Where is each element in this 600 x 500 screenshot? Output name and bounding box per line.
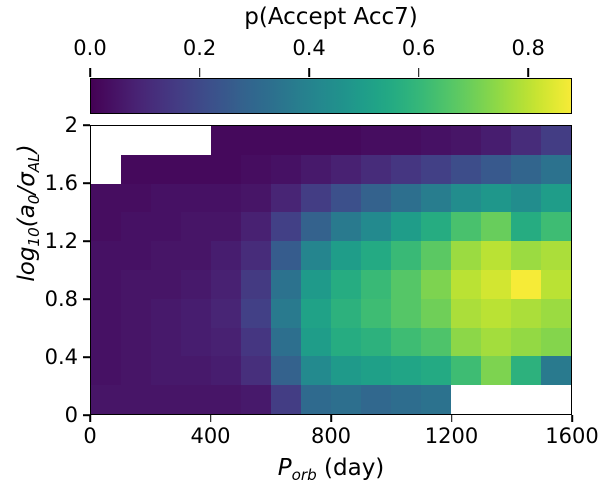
x-tick-mark: [451, 415, 453, 422]
heatmap-cell: [391, 126, 421, 155]
heatmap-cell: [241, 356, 271, 385]
heatmap-cell: [181, 270, 211, 299]
heatmap-cell: [301, 356, 331, 385]
y-tick-mark: [83, 182, 90, 184]
heatmap-cell: [541, 212, 571, 241]
heatmap-cell: [451, 184, 481, 213]
heatmap-cell: [151, 385, 181, 414]
heatmap-cell: [211, 184, 241, 213]
heatmap-cell: [301, 270, 331, 299]
heatmap-cell: [241, 184, 271, 213]
heatmap-cell: [481, 241, 511, 270]
heatmap-cell: [331, 212, 361, 241]
heatmap-cell: [391, 184, 421, 213]
heatmap-cell: [271, 356, 301, 385]
heatmap-cell: [511, 328, 541, 357]
heatmap-cell: [451, 328, 481, 357]
heatmap-cell: [541, 184, 571, 213]
heatmap-cell: [421, 241, 451, 270]
heatmap-cell: [181, 328, 211, 357]
heatmap-cell: [91, 270, 121, 299]
heatmap-cell: [181, 356, 211, 385]
heatmap-cell: [91, 299, 121, 328]
heatmap-cell: [151, 184, 181, 213]
heatmap-cell: [301, 241, 331, 270]
heatmap-cell: [121, 299, 151, 328]
heatmap-cell: [451, 126, 481, 155]
colorbar-tick-label: 0.2: [183, 36, 216, 60]
heatmap-cell: [481, 356, 511, 385]
heatmap-cell: [331, 299, 361, 328]
heatmap-cell: [241, 270, 271, 299]
heatmap-cell: [241, 212, 271, 241]
heatmap-cell: [451, 241, 481, 270]
colorbar-title: p(Accept Acc7): [90, 6, 572, 29]
heatmap-cell: [541, 328, 571, 357]
y-tick-label: 0: [65, 403, 78, 427]
heatmap-cell: [151, 299, 181, 328]
heatmap-cell: [541, 385, 571, 414]
heatmap-cell: [181, 155, 211, 184]
heatmap-cell: [481, 385, 511, 414]
heatmap-cell: [361, 299, 391, 328]
heatmap-cell: [211, 155, 241, 184]
y-axis-label: log10(a0/σAL): [14, 68, 40, 358]
heatmap-cell: [361, 184, 391, 213]
heatmap-cell: [151, 270, 181, 299]
heatmap-cell: [301, 126, 331, 155]
x-tick-mark: [330, 415, 332, 422]
heatmap-cell: [331, 184, 361, 213]
heatmap-cell: [301, 155, 331, 184]
heatmap-cell: [91, 184, 121, 213]
colorbar-tick-mark: [527, 68, 529, 77]
heatmap-cell: [211, 299, 241, 328]
colorbar-tick-mark: [308, 68, 310, 77]
heatmap-cell: [481, 212, 511, 241]
y-tick-mark: [83, 240, 90, 242]
heatmap-cell: [541, 241, 571, 270]
heatmap-cell: [511, 155, 541, 184]
heatmap-cell: [271, 385, 301, 414]
y-label-symbol: log10(a0/σAL): [14, 144, 40, 281]
heatmap-cell: [541, 356, 571, 385]
colorbar-tick-label: 0.6: [402, 36, 435, 60]
heatmap-cell: [271, 299, 301, 328]
heatmap-cell: [271, 126, 301, 155]
heatmap-cell: [451, 155, 481, 184]
heatmap-cell: [91, 356, 121, 385]
x-tick-label: 400: [190, 424, 230, 448]
heatmap-cell: [331, 126, 361, 155]
y-tick-mark: [83, 298, 90, 300]
heatmap-cell: [361, 241, 391, 270]
heatmap-cell: [391, 270, 421, 299]
heatmap-cell: [121, 241, 151, 270]
heatmap-cell: [301, 299, 331, 328]
heatmap-cell: [361, 356, 391, 385]
heatmap-cell: [361, 212, 391, 241]
heatmap-cell: [121, 385, 151, 414]
y-tick-mark: [83, 414, 90, 416]
heatmap-cell: [121, 270, 151, 299]
colorbar-tick-label: 0.0: [73, 36, 106, 60]
heatmap-cell: [271, 212, 301, 241]
heatmap-cell: [91, 212, 121, 241]
colorbar-tick-mark: [418, 68, 420, 77]
heatmap-cell: [391, 328, 421, 357]
heatmap-cell: [451, 212, 481, 241]
heatmap-cell: [511, 299, 541, 328]
x-tick-label: 1200: [425, 424, 478, 448]
heatmap-cell: [481, 184, 511, 213]
heatmap-cell: [241, 126, 271, 155]
x-tick-mark: [89, 415, 91, 422]
heatmap-cell: [391, 299, 421, 328]
heatmap-cell: [91, 241, 121, 270]
heatmap-cell: [211, 241, 241, 270]
x-label-symbol: Porb: [278, 455, 317, 481]
heatmap-cell: [121, 126, 151, 155]
colorbar-tick-mark: [89, 68, 91, 77]
heatmap-cell: [331, 155, 361, 184]
colorbar: [90, 78, 572, 114]
heatmap-cell: [211, 356, 241, 385]
x-tick-mark: [571, 415, 573, 422]
heatmap-cell: [391, 212, 421, 241]
heatmap-cell: [511, 126, 541, 155]
heatmap-cell: [121, 328, 151, 357]
heatmap-cell: [391, 356, 421, 385]
heatmap-cell: [331, 328, 361, 357]
heatmap-cell: [151, 241, 181, 270]
heatmap-cell: [511, 385, 541, 414]
colorbar-gradient: [90, 78, 572, 114]
heatmap-cell: [391, 155, 421, 184]
heatmap-cell: [241, 241, 271, 270]
heatmap-cell: [391, 385, 421, 414]
heatmap-cell: [181, 184, 211, 213]
heatmap-cell: [211, 328, 241, 357]
heatmap-cell: [91, 328, 121, 357]
heatmap-cell: [301, 328, 331, 357]
x-axis-label: Porb (day): [90, 455, 572, 481]
heatmap-cell: [451, 356, 481, 385]
heatmap-cell: [511, 241, 541, 270]
heatmap-cell: [511, 356, 541, 385]
heatmap-cell: [271, 328, 301, 357]
heatmap-cell: [211, 270, 241, 299]
heatmap-cell: [331, 385, 361, 414]
x-tick-mark: [210, 415, 212, 422]
heatmap-cell: [331, 241, 361, 270]
heatmap-cell: [241, 155, 271, 184]
heatmap-cell: [451, 270, 481, 299]
y-tick-label: 0.4: [45, 345, 78, 369]
y-tick-label: 1.6: [45, 171, 78, 195]
heatmap-cell: [541, 155, 571, 184]
colorbar-tick-label: 0.8: [511, 36, 544, 60]
x-tick-label: 800: [311, 424, 351, 448]
heatmap-cell: [151, 356, 181, 385]
heatmap-cell: [481, 328, 511, 357]
heatmap-plot-area: [90, 125, 572, 415]
heatmap-cell: [511, 184, 541, 213]
figure: p(Accept Acc7) 0.00.20.40.60.8 040080012…: [0, 0, 600, 500]
heatmap-cell: [361, 270, 391, 299]
colorbar-tick-label: 0.4: [292, 36, 325, 60]
heatmap-cell: [421, 385, 451, 414]
heatmap-cell: [511, 212, 541, 241]
heatmap-cell: [211, 385, 241, 414]
heatmap-cell: [271, 270, 301, 299]
heatmap-grid: [91, 126, 571, 414]
heatmap-cell: [361, 328, 391, 357]
heatmap-cell: [421, 356, 451, 385]
heatmap-cell: [271, 241, 301, 270]
y-tick-mark: [83, 356, 90, 358]
heatmap-cell: [481, 270, 511, 299]
heatmap-cell: [421, 328, 451, 357]
heatmap-cell: [541, 126, 571, 155]
heatmap-cell: [481, 155, 511, 184]
heatmap-cell: [421, 155, 451, 184]
heatmap-cell: [121, 155, 151, 184]
heatmap-cell: [301, 212, 331, 241]
heatmap-cell: [271, 155, 301, 184]
y-tick-label: 1.2: [45, 229, 78, 253]
heatmap-cell: [91, 385, 121, 414]
heatmap-cell: [241, 385, 271, 414]
heatmap-cell: [121, 356, 151, 385]
heatmap-cell: [421, 184, 451, 213]
heatmap-cell: [301, 184, 331, 213]
heatmap-cell: [91, 126, 121, 155]
heatmap-cell: [181, 126, 211, 155]
heatmap-cell: [151, 212, 181, 241]
x-tick-label: 1600: [545, 424, 598, 448]
heatmap-cell: [151, 155, 181, 184]
heatmap-cell: [391, 241, 421, 270]
colorbar-tick-mark: [199, 68, 201, 77]
heatmap-cell: [451, 299, 481, 328]
heatmap-cell: [361, 385, 391, 414]
heatmap-cell: [151, 126, 181, 155]
x-label-unit: (day): [324, 455, 384, 481]
heatmap-cell: [331, 356, 361, 385]
heatmap-cell: [331, 270, 361, 299]
heatmap-cell: [541, 299, 571, 328]
heatmap-cell: [241, 299, 271, 328]
heatmap-cell: [211, 126, 241, 155]
heatmap-cell: [271, 184, 301, 213]
heatmap-cell: [181, 241, 211, 270]
y-tick-label: 0.8: [45, 287, 78, 311]
heatmap-cell: [361, 126, 391, 155]
heatmap-cell: [91, 155, 121, 184]
y-tick-mark: [83, 124, 90, 126]
heatmap-cell: [181, 299, 211, 328]
heatmap-cell: [361, 155, 391, 184]
heatmap-cell: [421, 270, 451, 299]
x-tick-label: 0: [83, 424, 96, 448]
heatmap-cell: [541, 270, 571, 299]
heatmap-cell: [151, 328, 181, 357]
heatmap-cell: [181, 212, 211, 241]
heatmap-cell: [421, 299, 451, 328]
heatmap-cell: [121, 184, 151, 213]
heatmap-cell: [301, 385, 331, 414]
heatmap-cell: [481, 126, 511, 155]
heatmap-cell: [451, 385, 481, 414]
heatmap-cell: [421, 126, 451, 155]
y-tick-label: 2: [65, 113, 78, 137]
heatmap-cell: [241, 328, 271, 357]
heatmap-cell: [481, 299, 511, 328]
heatmap-cell: [121, 212, 151, 241]
heatmap-cell: [181, 385, 211, 414]
heatmap-cell: [421, 212, 451, 241]
heatmap-cell: [211, 212, 241, 241]
heatmap-cell: [511, 270, 541, 299]
